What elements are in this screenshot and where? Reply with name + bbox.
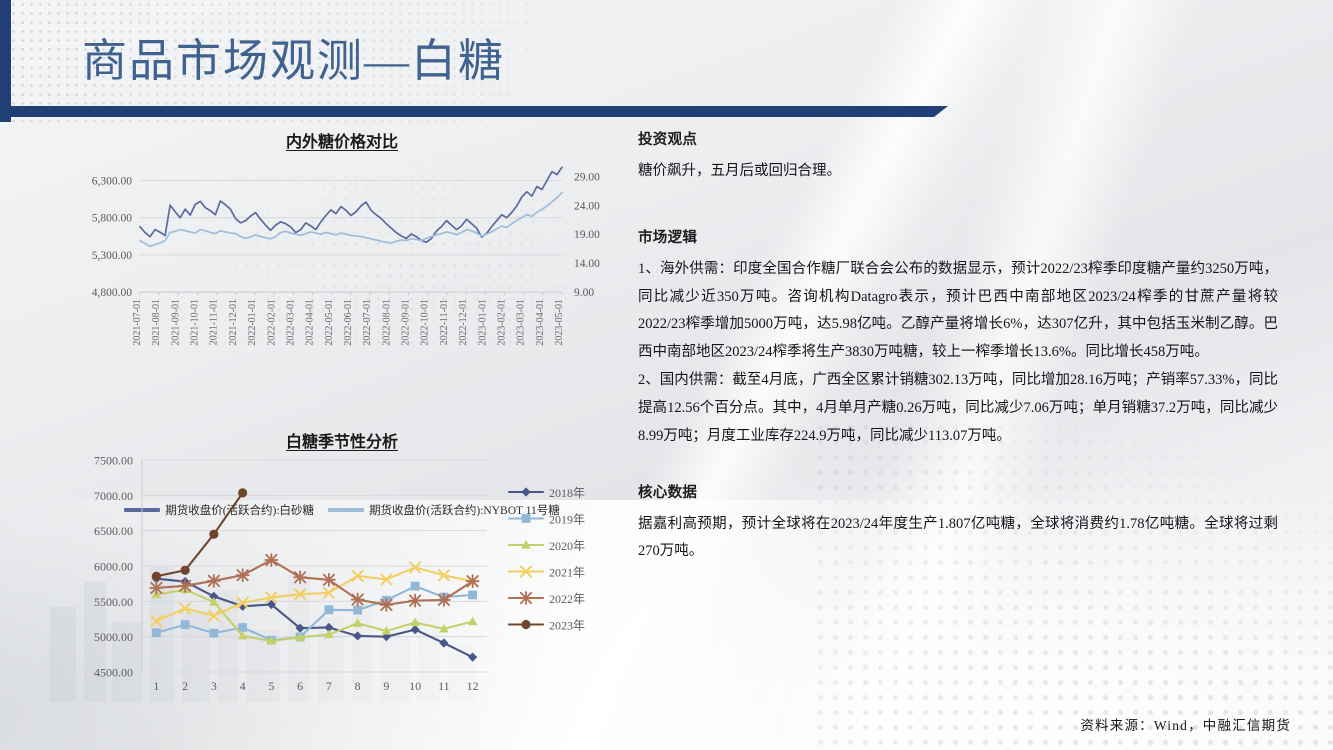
section-heading-1: 投资观点	[638, 128, 1278, 149]
chart2-legend-item: 2021年	[509, 566, 585, 580]
svg-text:2022-06-01: 2022-06-01	[343, 299, 354, 346]
source-note: 资料来源：Wind，中融汇信期货	[1080, 714, 1291, 734]
chart1-plot: 4,800.005,300.005,800.006,300.00 9.0014.…	[62, 148, 622, 378]
paragraph: 据嘉利高预期，预计全球将在2023/24年度生产1.807亿吨糖，全球将消费约1…	[638, 511, 1278, 567]
chart2-legend-item: 2023年	[509, 619, 585, 633]
svg-text:19.00: 19.00	[574, 229, 600, 241]
svg-text:7500.00: 7500.00	[94, 454, 133, 468]
svg-text:6,300.00: 6,300.00	[92, 176, 133, 188]
chart2-legend-item: 2020年	[509, 539, 585, 553]
svg-text:6: 6	[297, 679, 303, 693]
section-spacer	[638, 186, 1278, 226]
chart2-legend-item: 2019年	[509, 513, 585, 527]
svg-text:2021-09-01: 2021-09-01	[170, 299, 181, 346]
svg-text:2022-04-01: 2022-04-01	[305, 299, 316, 346]
slide-root: 商品市场观测—白糖 内外糖价格对比 4,800.005,300.005,800.…	[0, 0, 1333, 750]
svg-text:14.00: 14.00	[574, 258, 600, 270]
svg-text:29.00: 29.00	[574, 171, 600, 183]
svg-text:2022-08-01: 2022-08-01	[381, 299, 392, 346]
svg-text:2023-03-01: 2023-03-01	[516, 299, 527, 346]
svg-text:2022-11-01: 2022-11-01	[439, 299, 450, 345]
svg-text:9: 9	[383, 679, 389, 693]
svg-text:2: 2	[182, 679, 188, 693]
paragraph: 2、国内供需：截至4月底，广西全区累计销糖302.13万吨，同比增加28.16万…	[638, 367, 1278, 450]
svg-text:2023-02-01: 2023-02-01	[497, 299, 508, 346]
svg-text:2022-07-01: 2022-07-01	[362, 299, 373, 346]
svg-text:2022-02-01: 2022-02-01	[266, 299, 277, 346]
svg-text:5,300.00: 5,300.00	[92, 250, 133, 262]
paragraph: 1、海外供需：印度全国合作糖厂联合会公布的数据显示，预计2022/23榨季印度糖…	[638, 256, 1278, 367]
svg-text:6500.00: 6500.00	[94, 524, 133, 538]
svg-text:2022年: 2022年	[549, 592, 585, 606]
section-spacer	[638, 451, 1278, 481]
svg-text:2022-03-01: 2022-03-01	[286, 299, 297, 346]
svg-text:2022-09-01: 2022-09-01	[401, 299, 412, 346]
svg-text:11: 11	[438, 679, 450, 693]
svg-text:24.00: 24.00	[574, 200, 600, 212]
svg-text:10: 10	[409, 679, 421, 693]
svg-text:2022-12-01: 2022-12-01	[458, 299, 469, 346]
svg-text:2023年: 2023年	[549, 619, 585, 633]
svg-text:2021-12-01: 2021-12-01	[228, 299, 239, 346]
commentary-panel: 投资观点糖价飙升，五月后或回归合理。市场逻辑1、海外供需：印度全国合作糖厂联合会…	[638, 128, 1278, 566]
svg-text:4500.00: 4500.00	[94, 666, 133, 680]
svg-text:5: 5	[268, 679, 274, 693]
svg-text:2023-05-01: 2023-05-01	[554, 299, 565, 346]
svg-text:2022-10-01: 2022-10-01	[420, 299, 431, 346]
svg-text:7000.00: 7000.00	[94, 489, 133, 503]
svg-text:4: 4	[240, 679, 246, 693]
svg-text:2023-01-01: 2023-01-01	[477, 299, 488, 346]
svg-text:2019年: 2019年	[549, 513, 585, 527]
svg-text:5,800.00: 5,800.00	[92, 213, 133, 225]
svg-text:2023-04-01: 2023-04-01	[535, 299, 546, 346]
section-body-2: 1、海外供需：印度全国合作糖厂联合会公布的数据显示，预计2022/23榨季印度糖…	[638, 256, 1278, 451]
header-underline-bar	[0, 106, 948, 117]
svg-text:2020年: 2020年	[549, 539, 585, 553]
svg-text:2022-05-01: 2022-05-01	[324, 299, 335, 346]
section-heading-3: 核心数据	[638, 481, 1278, 502]
svg-text:8: 8	[355, 679, 361, 693]
svg-text:9.00: 9.00	[574, 287, 594, 299]
svg-text:6000.00: 6000.00	[94, 560, 133, 574]
chart2-legend-item: 2022年	[509, 592, 585, 606]
svg-text:4,800.00: 4,800.00	[92, 287, 133, 299]
chart2-legend-item: 2018年	[509, 486, 585, 500]
svg-text:2021年: 2021年	[549, 566, 585, 580]
section-heading-2: 市场逻辑	[638, 226, 1278, 247]
svg-text:5500.00: 5500.00	[94, 595, 133, 609]
page-title: 商品市场观测—白糖	[82, 36, 505, 88]
chart2-plot: 4500.005000.005500.006000.006500.007000.…	[62, 448, 642, 708]
svg-text:3: 3	[211, 679, 217, 693]
svg-text:2021-08-01: 2021-08-01	[151, 299, 162, 346]
svg-text:2021-11-01: 2021-11-01	[209, 299, 220, 345]
header-left-accent-bar	[0, 0, 11, 122]
svg-text:1: 1	[153, 679, 159, 693]
section-body-3: 据嘉利高预期，预计全球将在2023/24年度生产1.807亿吨糖，全球将消费约1…	[638, 511, 1278, 567]
svg-text:2018年: 2018年	[549, 486, 585, 500]
svg-text:2022-01-01: 2022-01-01	[247, 299, 258, 346]
svg-text:5000.00: 5000.00	[94, 630, 133, 644]
chart-price-comparison: 内外糖价格对比 4,800.005,300.005,800.006,300.00…	[62, 128, 622, 413]
svg-text:2021-10-01: 2021-10-01	[190, 299, 201, 346]
section-body-1: 糖价飙升，五月后或回归合理。	[638, 158, 1278, 186]
svg-text:12: 12	[467, 679, 479, 693]
paragraph: 糖价飙升，五月后或回归合理。	[638, 158, 1278, 186]
chart-seasonality: 白糖季节性分析 4500.005000.005500.006000.006500…	[62, 428, 642, 713]
svg-text:2021-07-01: 2021-07-01	[132, 299, 143, 346]
svg-text:7: 7	[326, 679, 332, 693]
